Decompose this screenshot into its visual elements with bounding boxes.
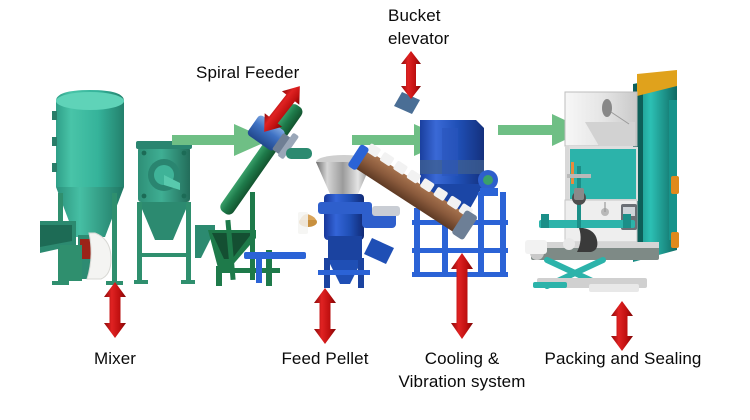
label-packing-sealing: Packing and Sealing [528, 348, 718, 369]
station-mixer[interactable] [40, 85, 215, 290]
callout-arrow-cooling-vibration [448, 252, 476, 340]
callout-arrow-bucket-elevator [398, 50, 424, 100]
label-feed-pellet: Feed Pellet [265, 348, 385, 369]
label-cooling-line1: Cooling & [382, 348, 542, 369]
callout-arrow-spiral-feeder [252, 78, 312, 140]
label-mixer: Mixer [65, 348, 165, 369]
callout-arrow-feed-pellet [311, 287, 339, 345]
callout-arrow-packing-sealing [608, 300, 636, 352]
diagram-canvas: Spiral Feeder Bucket elevator Mixer Feed… [0, 0, 750, 420]
label-bucket-elevator-line2: elevator [388, 28, 449, 49]
label-cooling-line2: Vibration system [382, 371, 542, 392]
station-packing-sealing[interactable] [525, 70, 700, 300]
label-spiral-feeder: Spiral Feeder [196, 62, 299, 83]
label-bucket-elevator-line1: Bucket [388, 5, 441, 26]
station-bucket-elevator-and-cooling[interactable] [368, 88, 518, 293]
callout-arrow-mixer [101, 281, 129, 339]
